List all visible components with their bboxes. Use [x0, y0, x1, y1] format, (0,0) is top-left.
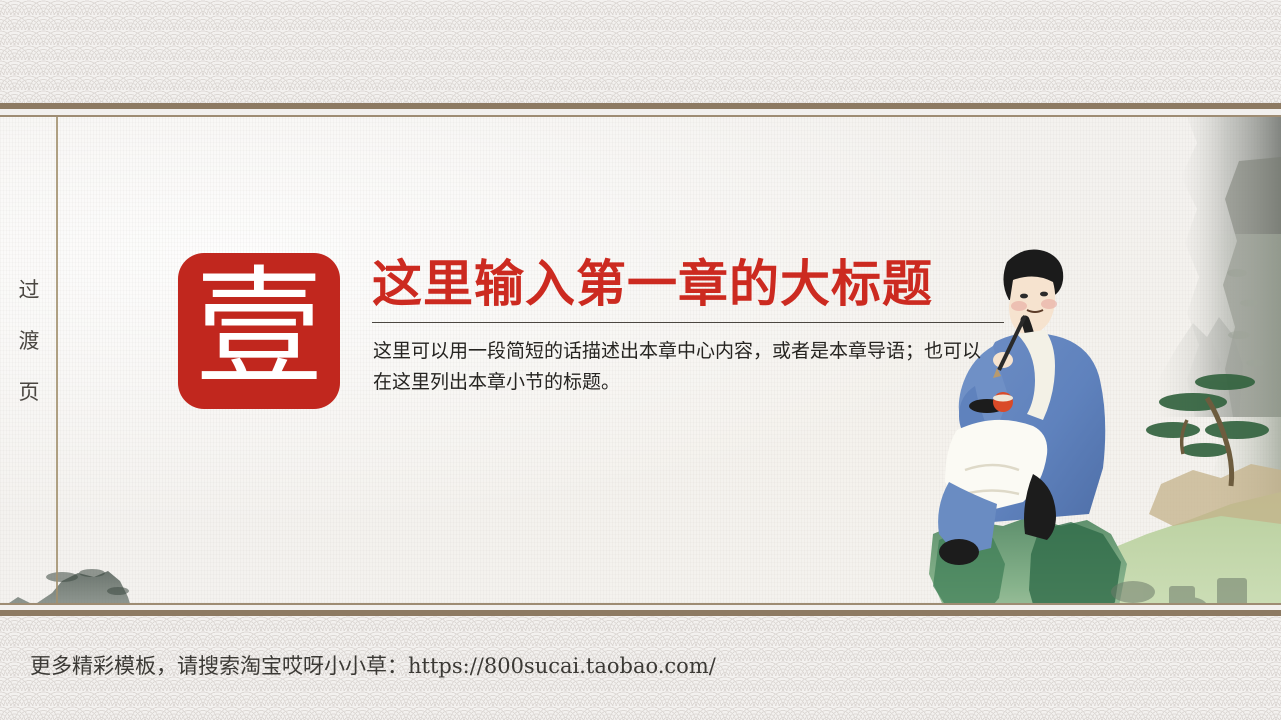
page-title: 这里输入第一章的大标题: [372, 259, 933, 309]
seigaiha-pattern-top: [0, 0, 1281, 103]
content-panel: 过 渡 页 壹 这里输入第一章的大标题 这里可以用一段简短的话描述出本章中心内容…: [0, 117, 1281, 603]
chapter-number-badge[interactable]: 壹: [178, 253, 340, 409]
chapter-number-character: 壹: [195, 265, 323, 393]
ink-wash-mountains-left: [0, 547, 470, 603]
side-label-char-1: 过: [8, 280, 50, 301]
title-underline-rule: [372, 322, 1004, 323]
side-label-transition-page: 过 渡 页: [8, 280, 50, 403]
page-subtitle: 这里可以用一段简短的话描述出本章中心内容，或者是本章导语；也可以在这里列出本章小…: [373, 336, 983, 398]
footer-credit-text: 更多精彩模板，请搜索淘宝哎呀小小草：https://800sucai.taoba…: [30, 650, 716, 680]
border-rule-top-thick: [0, 103, 1281, 109]
side-label-char-2: 渡: [8, 331, 50, 352]
border-rule-bottom-thin: [0, 603, 1281, 605]
left-column-divider: [56, 117, 58, 603]
side-label-char-3: 页: [8, 382, 50, 403]
chinese-ink-scholar-painting: [921, 234, 1281, 603]
slide-canvas: 过 渡 页 壹 这里输入第一章的大标题 这里可以用一段简短的话描述出本章中心内容…: [0, 0, 1281, 720]
